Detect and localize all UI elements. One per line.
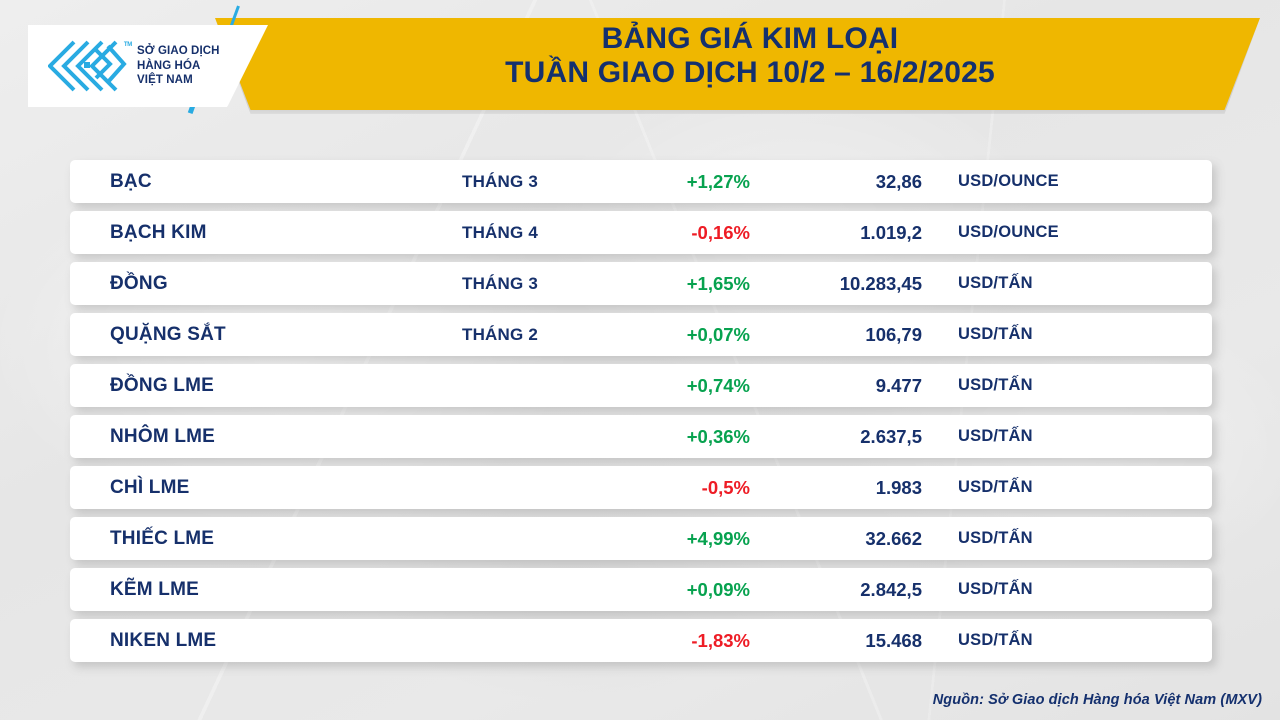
price-unit: USD/TẤN <box>958 427 1033 446</box>
price-value: 32,86 <box>770 171 922 193</box>
change-percent: +0,07% <box>590 324 750 346</box>
mxv-chevron-logo-icon: TM <box>48 40 128 92</box>
contract-month: THÁNG 2 <box>380 325 620 345</box>
logo-line-2: HÀNG HÓA <box>137 59 220 74</box>
change-percent: +4,99% <box>590 528 750 550</box>
commodity-name: ĐỒNG LME <box>110 375 214 397</box>
logo-line-3: VIỆT NAM <box>137 73 220 88</box>
table-row[interactable]: NIKEN LME-1,83%15.468USD/TẤN <box>70 619 1212 662</box>
table-row[interactable]: KẼM LME+0,09%2.842,5USD/TẤN <box>70 568 1212 611</box>
table-row[interactable]: ĐỒNG LME+0,74%9.477USD/TẤN <box>70 364 1212 407</box>
contract-month: THÁNG 3 <box>380 274 620 294</box>
change-percent: +0,09% <box>590 579 750 601</box>
price-value: 1.019,2 <box>770 222 922 244</box>
commodity-name: QUẶNG SẮT <box>110 324 226 346</box>
page-header: TM SỞ GIAO DỊCH HÀNG HÓA VIỆT NAM BẢNG G… <box>0 0 1280 118</box>
change-percent: +0,74% <box>590 375 750 397</box>
page-title: BẢNG GIÁ KIM LOẠI TUẦN GIAO DỊCH 10/2 – … <box>300 22 1200 90</box>
table-row[interactable]: THIẾC LME+4,99%32.662USD/TẤN <box>70 517 1212 560</box>
price-value: 106,79 <box>770 324 922 346</box>
price-unit: USD/OUNCE <box>958 223 1059 242</box>
price-value: 2.637,5 <box>770 426 922 448</box>
change-percent: -1,83% <box>590 630 750 652</box>
commodity-name: NIKEN LME <box>110 630 216 652</box>
commodity-name: BẠC <box>110 171 152 193</box>
table-row[interactable]: CHÌ LME-0,5%1.983USD/TẤN <box>70 466 1212 509</box>
page-title-line-1: BẢNG GIÁ KIM LOẠI <box>300 22 1200 56</box>
table-row[interactable]: QUẶNG SẮTTHÁNG 2+0,07%106,79USD/TẤN <box>70 313 1212 356</box>
table-row[interactable]: ĐỒNGTHÁNG 3+1,65%10.283,45USD/TẤN <box>70 262 1212 305</box>
contract-month: THÁNG 3 <box>380 172 620 192</box>
commodity-name: BẠCH KIM <box>110 222 207 244</box>
price-unit: USD/TẤN <box>958 580 1033 599</box>
contract-month: THÁNG 4 <box>380 223 620 243</box>
change-percent: +1,65% <box>590 273 750 295</box>
change-percent: -0,16% <box>590 222 750 244</box>
commodity-name: CHÌ LME <box>110 477 190 499</box>
price-unit: USD/TẤN <box>958 274 1033 293</box>
price-value: 2.842,5 <box>770 579 922 601</box>
commodity-name: NHÔM LME <box>110 426 215 448</box>
commodity-name: ĐỒNG <box>110 273 168 295</box>
price-unit: USD/TẤN <box>958 529 1033 548</box>
change-percent: -0,5% <box>590 477 750 499</box>
change-percent: +1,27% <box>590 171 750 193</box>
commodity-name: KẼM LME <box>110 579 199 601</box>
table-row[interactable]: BẠCH KIMTHÁNG 4-0,16%1.019,2USD/OUNCE <box>70 211 1212 254</box>
page-title-line-2: TUẦN GIAO DỊCH 10/2 – 16/2/2025 <box>300 56 1200 90</box>
source-note: Nguồn: Sở Giao dịch Hàng hóa Việt Nam (M… <box>933 692 1262 708</box>
change-percent: +0,36% <box>590 426 750 448</box>
price-value: 10.283,45 <box>770 273 922 295</box>
price-value: 1.983 <box>770 477 922 499</box>
price-unit: USD/TẤN <box>958 631 1033 650</box>
table-row[interactable]: BẠCTHÁNG 3+1,27%32,86USD/OUNCE <box>70 160 1212 203</box>
table-row[interactable]: NHÔM LME+0,36%2.637,5USD/TẤN <box>70 415 1212 458</box>
logo-wordmark: SỞ GIAO DỊCH HÀNG HÓA VIỆT NAM <box>137 44 220 88</box>
trademark-symbol: TM <box>124 42 132 48</box>
price-value: 15.468 <box>770 630 922 652</box>
price-unit: USD/TẤN <box>958 478 1033 497</box>
price-value: 9.477 <box>770 375 922 397</box>
price-unit: USD/OUNCE <box>958 172 1059 191</box>
logo-card: TM SỞ GIAO DỊCH HÀNG HÓA VIỆT NAM <box>28 25 268 107</box>
price-value: 32.662 <box>770 528 922 550</box>
commodity-name: THIẾC LME <box>110 528 214 550</box>
metal-price-table: BẠCTHÁNG 3+1,27%32,86USD/OUNCEBẠCH KIMTH… <box>70 160 1212 670</box>
price-unit: USD/TẤN <box>958 376 1033 395</box>
price-unit: USD/TẤN <box>958 325 1033 344</box>
logo-line-1: SỞ GIAO DỊCH <box>137 44 220 59</box>
